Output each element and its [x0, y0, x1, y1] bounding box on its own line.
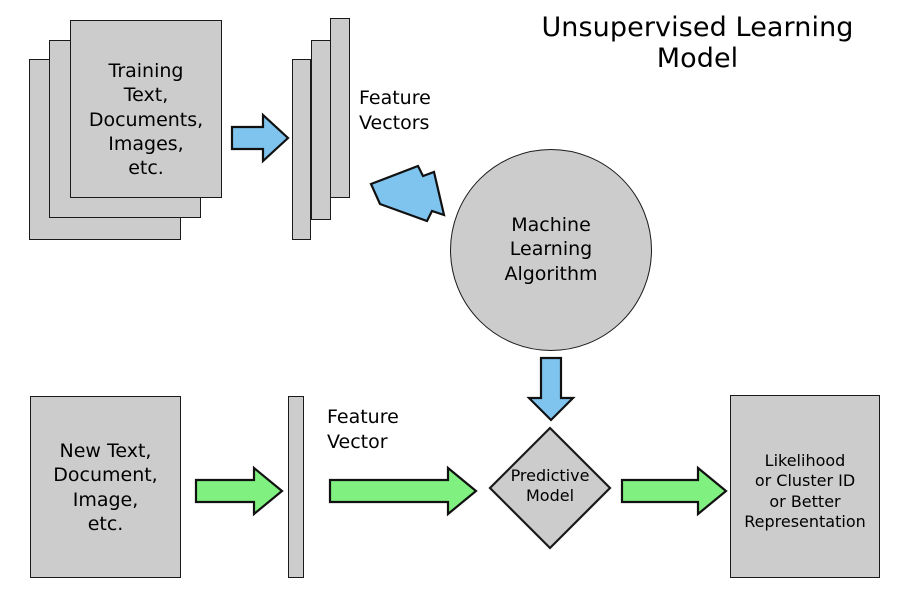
arrow-docs-to-feature-vectors-icon	[230, 113, 290, 163]
output-label: Likelihood or Cluster ID or Better Repre…	[731, 451, 879, 533]
training-feature-vector-bar-back	[330, 18, 350, 198]
new-document-box: New Text, Document, Image, etc.	[30, 396, 181, 578]
new-feature-vector-bar	[288, 396, 304, 578]
arrow-feature-vectors-to-algorithm-icon	[368, 162, 454, 232]
diagram-canvas: Unsupervised Learning Model Training Tex…	[0, 0, 900, 600]
training-feature-vector-bar-front	[292, 59, 311, 240]
new-document-label: New Text, Document, Image, etc.	[31, 439, 180, 536]
training-feature-vector-bar-middle	[311, 40, 331, 220]
arrow-algorithm-to-predictive-model-icon	[527, 356, 575, 422]
training-documents-label: Training Text, Documents, Images, etc.	[71, 59, 221, 181]
arrow-new-doc-to-feature-vector-icon	[194, 466, 284, 516]
output-box: Likelihood or Cluster ID or Better Repre…	[730, 395, 880, 578]
machine-learning-algorithm-label: Machine Learning Algorithm	[451, 213, 651, 286]
arrow-feature-vector-to-predictive-model-icon	[328, 466, 478, 516]
machine-learning-algorithm-circle: Machine Learning Algorithm	[450, 149, 652, 351]
training-feature-vectors-label: Feature Vectors	[359, 86, 431, 135]
predictive-model-label: Predictive Model	[488, 466, 612, 506]
training-documents-box: Training Text, Documents, Images, etc.	[70, 20, 222, 198]
arrow-predictive-model-to-output-icon	[620, 466, 728, 516]
page-title: Unsupervised Learning Model	[505, 12, 890, 74]
new-feature-vector-label: Feature Vector	[327, 405, 399, 454]
